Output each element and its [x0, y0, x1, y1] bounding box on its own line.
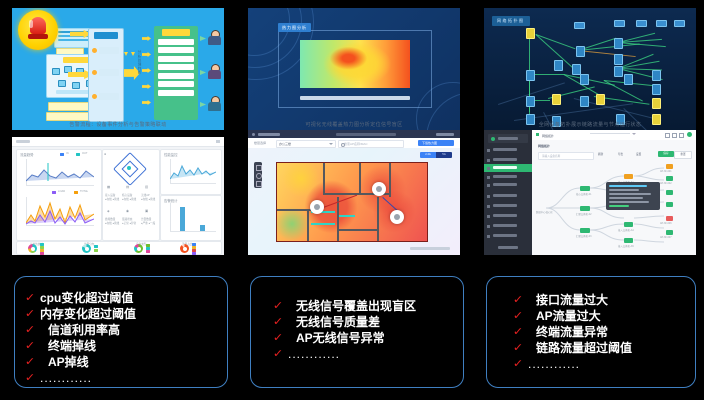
- list-item-label: 接口流量过大: [528, 293, 608, 307]
- panel-topology-dark: 网络拓扑图: [484, 8, 696, 130]
- band-toggle-24[interactable]: 2.4G: [420, 152, 436, 158]
- tree-node[interactable]: [624, 222, 633, 227]
- tree-node-warning[interactable]: [624, 174, 633, 179]
- download-heatmap-label: 下载热力图: [422, 141, 437, 145]
- check-icon: ✓: [24, 357, 36, 368]
- list-item: ✓ 终端掉线: [25, 339, 227, 353]
- topology-node[interactable]: [614, 20, 625, 27]
- flow-diagram-image: 分析处理判断: [12, 8, 224, 130]
- donut-chart: [82, 244, 91, 253]
- heatmap-tab-label[interactable]: 热力图分析: [278, 23, 311, 32]
- tooltip-title-bar: [609, 185, 647, 187]
- check-icon: ✓: [512, 311, 524, 322]
- sidebar-item-4[interactable]: [484, 181, 532, 189]
- screenshot-root: 分析处理判断: [0, 0, 704, 400]
- heatmap-surface: [300, 40, 410, 88]
- sidebar-item-6[interactable]: [484, 202, 532, 210]
- list-item-label: AP流量过大: [528, 309, 601, 323]
- list-item: ✓ 无线信号覆盖出现盲区: [273, 299, 463, 313]
- tree-node-error[interactable]: [666, 216, 673, 221]
- print-icon[interactable]: [665, 133, 670, 138]
- ap-marker[interactable]: [372, 182, 386, 196]
- dashboard-image: 流量趋势 IN OUT LOAD TOTAL ●: [12, 137, 224, 255]
- chevron-down-icon: [329, 143, 333, 145]
- toolbar-button-0[interactable]: 刷新: [598, 152, 603, 156]
- sidebar-item-9[interactable]: [484, 232, 532, 240]
- topology-dark-image: 网络拓扑图: [484, 8, 696, 130]
- ellipsis-label: ............: [288, 347, 340, 361]
- topology-node[interactable]: [552, 94, 561, 105]
- check-icon: ✓: [272, 349, 284, 360]
- band-toggle-5[interactable]: 5G: [436, 152, 452, 158]
- avatar[interactable]: [687, 132, 692, 137]
- list-item: ✓ cpu变化超过阈值: [25, 291, 227, 305]
- topology-node[interactable]: [652, 84, 661, 95]
- ellipsis-label: ............: [528, 357, 580, 371]
- bar: [180, 207, 185, 231]
- floor-select[interactable]: 办公三楼: [276, 140, 336, 148]
- ap-marker[interactable]: [310, 200, 324, 214]
- tree-node[interactable]: [666, 176, 673, 181]
- tree-node[interactable]: [666, 230, 673, 235]
- refresh-icon[interactable]: [672, 133, 677, 138]
- dashboard-titlebar: [12, 137, 224, 147]
- save-button[interactable]: 保存: [658, 151, 674, 157]
- check-icon: ✓: [272, 301, 284, 312]
- topology-node[interactable]: [652, 70, 661, 81]
- check-icon: ✓: [24, 373, 36, 384]
- wifi-search-placeholder: 搜索AP名称/MAC: [344, 142, 368, 146]
- console-sidebar: [484, 130, 532, 255]
- heatmap-dark-image: 热力图分析: [248, 8, 460, 130]
- panel-flow-diagram: 分析处理判断: [12, 8, 224, 130]
- tree-node[interactable]: [580, 206, 590, 211]
- list-item-ellipsis: ✓ ............: [273, 347, 463, 361]
- check-icon: ✓: [272, 333, 284, 344]
- topology-node[interactable]: [614, 38, 623, 49]
- sidebar-item-5[interactable]: [484, 192, 532, 200]
- sidebar-item-7[interactable]: [484, 212, 532, 220]
- reset-button[interactable]: 重置: [674, 151, 692, 159]
- wifi-titlebar: [248, 130, 460, 138]
- donut-chart: [28, 244, 37, 253]
- diagram-event-title: [94, 32, 118, 39]
- check-icon: ✓: [272, 317, 284, 328]
- list-item: ✓ 信道利用率高: [25, 323, 227, 337]
- list-item-label: cpu变化超过阈值: [40, 291, 133, 305]
- heatmap-dark-caption: 可视化无线覆盖热力图分析定位信号盲区: [248, 119, 460, 130]
- card-title: 性能监控: [164, 152, 178, 157]
- list-item: ✓ 无线信号质量差: [273, 315, 463, 329]
- diagram-person-1: [208, 30, 221, 45]
- tree-node-warning[interactable]: [666, 164, 673, 169]
- ap-link: [323, 195, 357, 208]
- wifi-search-input[interactable]: 搜索AP名称/MAC: [338, 140, 404, 148]
- card-title: 流量趋势: [20, 152, 34, 157]
- breadcrumb-icon: [536, 133, 539, 136]
- donut-chart: [180, 244, 189, 253]
- tree-node[interactable]: [580, 186, 590, 191]
- toolbar-button-2[interactable]: 设置: [636, 152, 641, 156]
- topology-node[interactable]: [614, 54, 623, 65]
- tree-node[interactable]: [666, 190, 673, 195]
- topology-node[interactable]: [526, 70, 535, 81]
- topology-node[interactable]: [652, 98, 661, 109]
- panel-dashboard: 流量趋势 IN OUT LOAD TOTAL ●: [12, 137, 224, 255]
- list-item-ellipsis: ✓ ............: [513, 357, 695, 371]
- list-item-label: 信道利用率高: [40, 323, 120, 337]
- topology-tree-canvas[interactable]: 网络拓扑 请输入设备名称 刷新 导出 设置 保存 重置: [532, 140, 696, 255]
- node-tooltip: [606, 182, 660, 210]
- alarm-list-items: ✓ cpu变化超过阈值 ✓ 内存变化超过阈值 ✓ 信道利用率高 ✓ 终端掉线 ✓…: [15, 277, 227, 385]
- list-item-label: 无线信号覆盖出现盲区: [288, 299, 416, 313]
- list-item: ✓ 终端流量异常: [513, 325, 695, 339]
- diagram-person-2: [208, 64, 221, 79]
- panel-heatmap-dark: 热力图分析 可视化无线覆盖热力图分析定位信号盲区: [248, 8, 460, 130]
- list-item: ✓ AP流量过大: [513, 309, 695, 323]
- topology-tab-label[interactable]: 网络拓扑图: [492, 16, 530, 26]
- chevron-down-icon[interactable]: [632, 133, 636, 135]
- sidebar-item-3[interactable]: [484, 173, 532, 181]
- scale-bar: [410, 247, 450, 250]
- topology-tree-image: 网络拓扑 网络拓扑 请输入设备名称 刷新 导出 设置 保存 重置: [484, 130, 696, 255]
- alarm-light-icon: [18, 10, 58, 50]
- wifi-canvas[interactable]: 2.4G 5G: [248, 148, 460, 255]
- topology-node[interactable]: [636, 20, 647, 27]
- topology-node[interactable]: [580, 96, 589, 107]
- topology-node[interactable]: [526, 28, 535, 39]
- search-icon: [341, 143, 346, 148]
- topology-dark-caption: 全网设备拓扑展示链路流量与节点运行状态: [484, 119, 696, 130]
- ellipsis-label: ............: [40, 371, 92, 385]
- topology-node[interactable]: [656, 20, 667, 27]
- check-icon: ✓: [512, 327, 524, 338]
- heatmap-scale-bar: [300, 96, 410, 100]
- list-item-label: 链路流量超过阈值: [528, 341, 632, 355]
- alarm-list-traffic: ✓ 接口流量过大 ✓ AP流量过大 ✓ 终端流量异常 ✓ 链路流量超过阈值 ✓ …: [486, 276, 696, 388]
- band-toggle[interactable]: 2.4G 5G: [420, 152, 452, 158]
- check-icon: ✓: [512, 295, 524, 306]
- ap-marker[interactable]: [390, 210, 404, 224]
- list-item-label: 终端流量异常: [528, 325, 608, 339]
- toolbar-button-1[interactable]: 导出: [618, 152, 623, 156]
- alarm-list-items: ✓ 接口流量过大 ✓ AP流量过大 ✓ 终端流量异常 ✓ 链路流量超过阈值 ✓ …: [487, 277, 695, 371]
- topology-node[interactable]: [596, 94, 605, 105]
- topology-node[interactable]: [674, 20, 685, 27]
- topology-node[interactable]: [526, 96, 535, 107]
- tree-node[interactable]: [624, 238, 633, 243]
- sidebar-item-8[interactable]: [484, 222, 532, 230]
- breadcrumb: 网络拓扑: [542, 134, 554, 138]
- list-item-label: 无线信号质量差: [288, 315, 380, 329]
- floor-select-value: 办公三楼: [279, 142, 291, 146]
- topology-node[interactable]: [580, 74, 589, 85]
- alarm-list-performance: ✓ cpu变化超过阈值 ✓ 内存变化超过阈值 ✓ 信道利用率高 ✓ 终端掉线 ✓…: [14, 276, 228, 388]
- floor-plan-heatmap: [276, 162, 428, 242]
- line-chart-in: [26, 159, 94, 185]
- download-heatmap-button[interactable]: 下载热力图: [418, 140, 454, 146]
- topology-node[interactable]: [576, 46, 585, 57]
- tree-panel-title: 网络拓扑: [538, 144, 550, 148]
- panel-topology-tree: 网络拓扑 网络拓扑 请输入设备名称 刷新 导出 设置 保存 重置: [484, 130, 696, 255]
- diagram-person-3: [208, 96, 221, 111]
- console-logo: [488, 134, 528, 143]
- list-item: ✓ AP无线信号异常: [273, 331, 463, 345]
- fullscreen-icon[interactable]: [679, 133, 684, 138]
- alarm-list-items: ✓ 无线信号覆盖出现盲区 ✓ 无线信号质量差 ✓ AP无线信号异常 ✓ ....…: [251, 277, 463, 361]
- check-icon: ✓: [512, 359, 524, 370]
- list-item-ellipsis: ✓ ............: [25, 371, 227, 385]
- donut-chart: [134, 244, 143, 253]
- list-item: ✓ 接口流量过大: [513, 293, 695, 307]
- list-item-label: AP无线信号异常: [288, 331, 385, 345]
- list-item: ✓ 内存变化超过阈值: [25, 307, 227, 321]
- list-item-label: 终端掉线: [40, 339, 96, 353]
- wifi-heatmap-image: 楼层选择 办公三楼 搜索AP名称/MAC 下载热力图 2.4G 5G: [248, 130, 460, 255]
- topology-node[interactable]: [614, 66, 623, 77]
- logo-icon: [491, 137, 495, 141]
- list-item: ✓ AP掉线: [25, 355, 227, 369]
- tree-search-placeholder: 请输入设备名称: [542, 154, 560, 158]
- flow-diagram-caption: 告警流程：设备事件分析与告警策略联动: [12, 119, 224, 130]
- sidebar-item-1[interactable]: [484, 156, 532, 164]
- tree-node[interactable]: [580, 228, 590, 233]
- filter-label: 楼层选择: [254, 141, 266, 145]
- panel-wifi-heatmap: 楼层选择 办公三楼 搜索AP名称/MAC 下载热力图 2.4G 5G: [248, 130, 460, 255]
- diagram-rule-box: [154, 26, 198, 120]
- check-icon: ✓: [24, 341, 36, 352]
- check-icon: ✓: [24, 293, 36, 304]
- line-chart-load: [26, 197, 94, 225]
- tree-node[interactable]: [666, 202, 673, 207]
- list-item-label: AP掉线: [40, 355, 89, 369]
- sidebar-item-0[interactable]: [484, 146, 532, 154]
- line-chart-perf: [170, 159, 216, 183]
- tree-search-input[interactable]: 请输入设备名称: [538, 152, 594, 160]
- check-icon: ✓: [24, 325, 36, 336]
- sidebar-collapse-button[interactable]: [498, 246, 518, 249]
- list-item-label: 内存变化超过阈值: [40, 307, 136, 321]
- check-icon: ✓: [512, 343, 524, 354]
- topology-node[interactable]: [554, 60, 563, 71]
- topology-node[interactable]: [624, 74, 633, 85]
- check-icon: ✓: [24, 309, 36, 320]
- wifi-tool-palette[interactable]: [254, 162, 262, 188]
- list-item: ✓ 链路流量超过阈值: [513, 341, 695, 355]
- alarm-list-wireless: ✓ 无线信号覆盖出现盲区 ✓ 无线信号质量差 ✓ AP无线信号异常 ✓ ....…: [250, 276, 464, 388]
- sidebar-item-2-active[interactable]: [484, 164, 532, 172]
- bar: [200, 225, 205, 231]
- topology-node[interactable]: [574, 22, 585, 29]
